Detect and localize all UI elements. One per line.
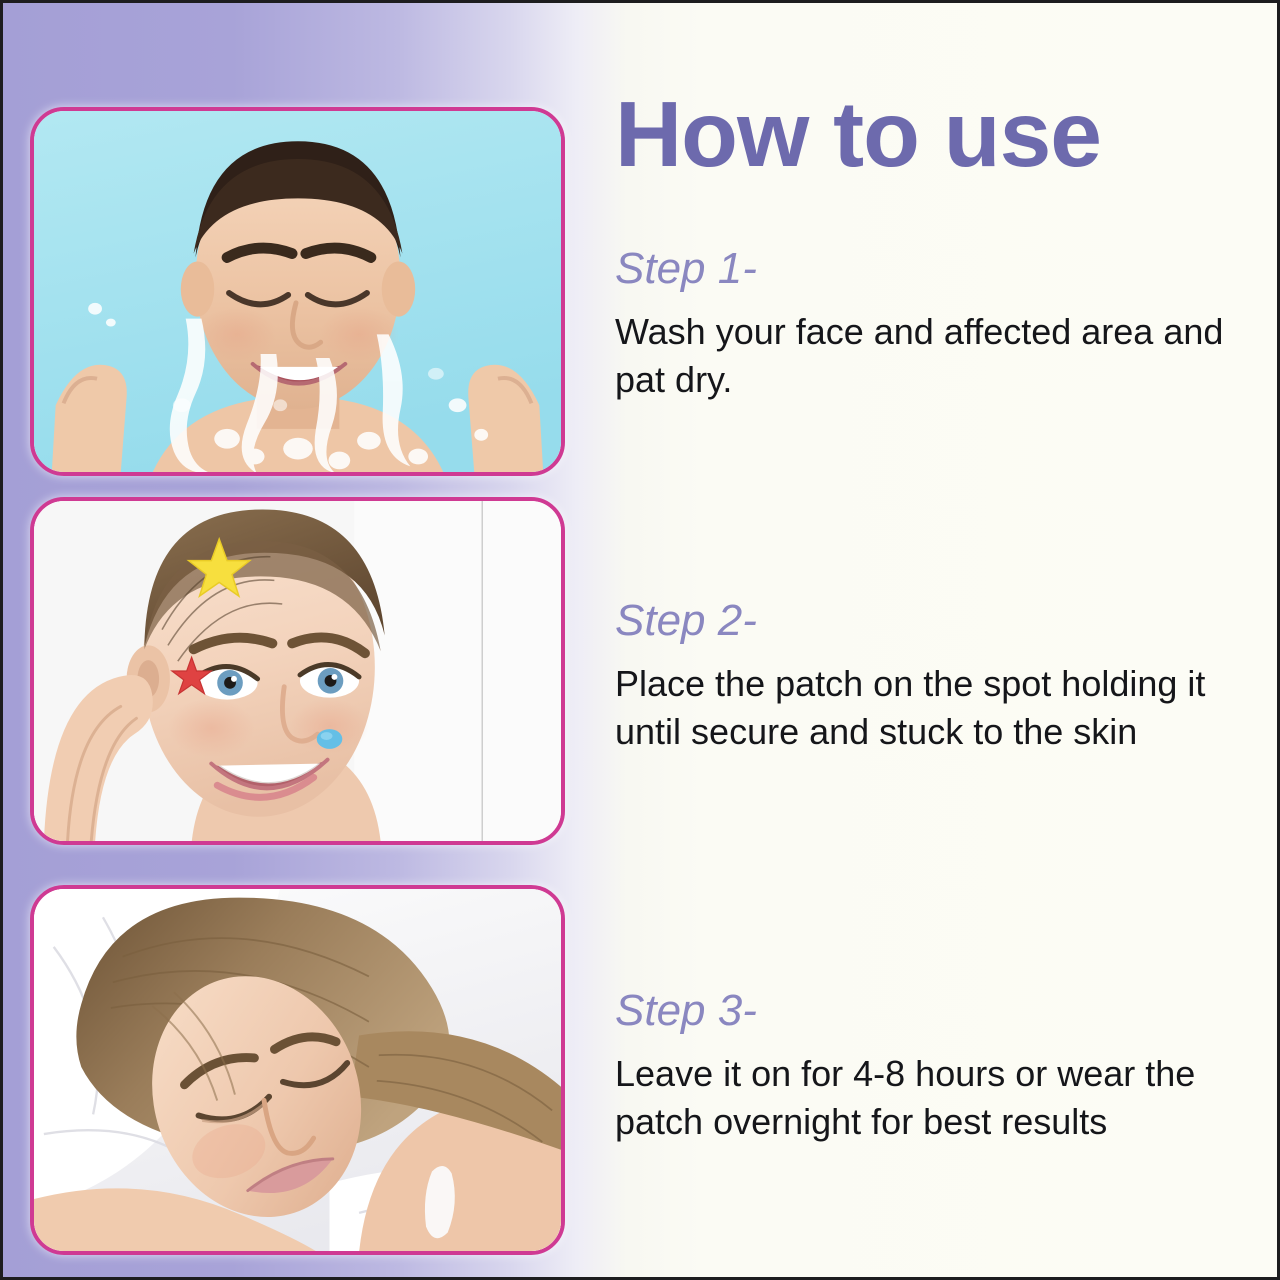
woman-washing-face-photo [34, 111, 561, 472]
step-2-photo-frame [30, 497, 565, 845]
text-column: How to use Step 1- Wash your face and af… [611, 3, 1259, 1277]
woman-sleeping-photo [34, 889, 561, 1251]
step-1-block: Step 1- Wash your face and affected area… [615, 246, 1245, 404]
page-title: How to use [615, 88, 1101, 181]
step-1-photo-frame [30, 107, 565, 476]
step-2-label: Step 2- [615, 598, 1245, 644]
step-3-label: Step 3- [615, 988, 1245, 1034]
photo-column [30, 3, 565, 1277]
blue-round-patch [317, 729, 343, 749]
woman-with-star-patches-photo [34, 501, 561, 841]
how-to-use-poster: How to use Step 1- Wash your face and af… [0, 0, 1280, 1280]
step-3-photo-frame [30, 885, 565, 1255]
step-2-block: Step 2- Place the patch on the spot hold… [615, 598, 1245, 756]
step-3-block: Step 3- Leave it on for 4-8 hours or wea… [615, 988, 1245, 1146]
step-3-body: Leave it on for 4-8 hours or wear the pa… [615, 1050, 1233, 1146]
step-2-body: Place the patch on the spot holding it u… [615, 660, 1233, 756]
step-1-label: Step 1- [615, 246, 1245, 292]
step-1-body: Wash your face and affected area and pat… [615, 308, 1233, 404]
